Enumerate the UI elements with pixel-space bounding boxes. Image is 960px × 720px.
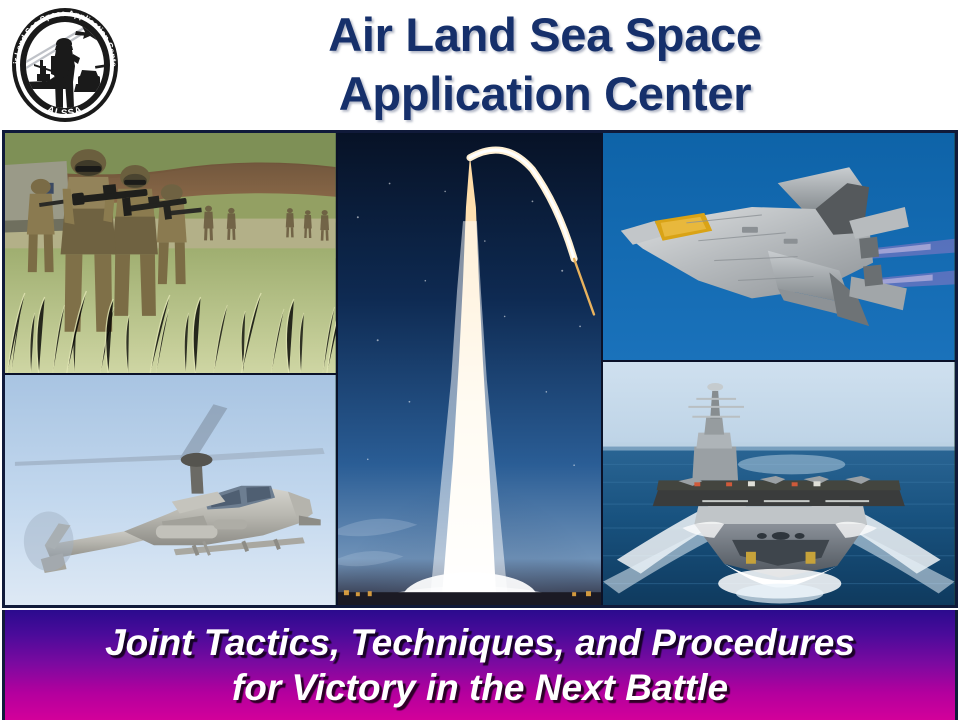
slide-header: Air Land Sea Space Application Center AL…	[0, 0, 960, 128]
collage-center-column	[336, 133, 604, 605]
footer-line-2: for Victory in the Next Battle	[232, 665, 728, 710]
footer-line-1: Joint Tactics, Techniques, and Procedure…	[105, 620, 855, 665]
title-line-2: Application Center	[339, 64, 751, 123]
collage-right-column	[603, 133, 955, 605]
attack-helicopter-photo	[5, 375, 336, 605]
alssa-seal-logo: Air Land Sea Space Application Center AL…	[6, 4, 124, 126]
missile-launch-photo	[336, 133, 604, 605]
title-line-1: Air Land Sea Space	[328, 5, 761, 64]
image-collage	[2, 130, 958, 608]
presentation-slide: Air Land Sea Space Application Center AL…	[0, 0, 960, 720]
collage-left-column	[5, 133, 336, 605]
soldiers-patrol-photo	[5, 133, 336, 375]
slide-footer-banner: Joint Tactics, Techniques, and Procedure…	[2, 610, 958, 720]
aircraft-carrier-photo	[603, 362, 955, 605]
fighter-jet-photo	[603, 133, 955, 362]
page-title: Air Land Sea Space Application Center	[150, 2, 940, 126]
